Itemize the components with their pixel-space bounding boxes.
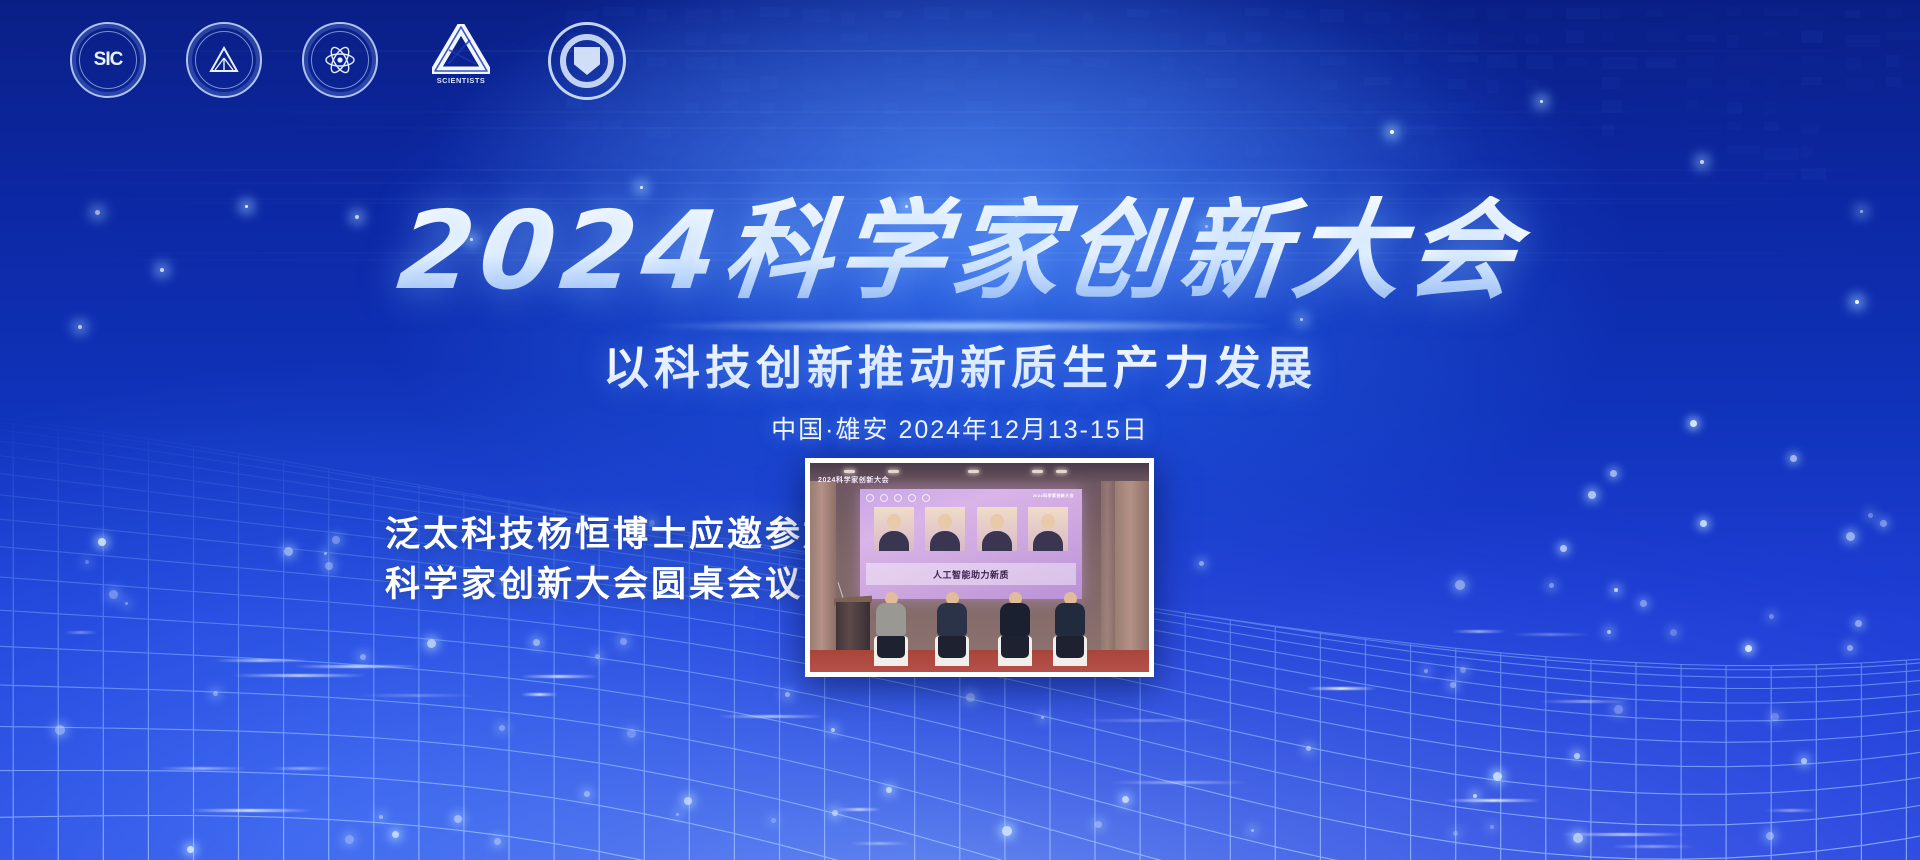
speaker-body [982,531,1012,551]
seal-triangle-glyph [188,24,260,96]
speaker-photo [1028,507,1068,551]
screen-topic-text: 人工智能助力新质 [933,568,1009,581]
panelist-legs [1056,636,1084,658]
organizer-logo-strip: SIC [70,22,620,94]
seal-monogram: SIC [72,24,144,96]
circular-seal-icon: SIC [70,22,146,98]
panelist [1000,592,1030,658]
circular-seal-atom-icon [302,22,378,98]
speaker-photo [977,507,1017,551]
speaker-head [887,514,901,529]
seal-atom-glyph [304,24,376,96]
panelist [937,592,967,658]
speaker-head [990,514,1004,529]
circular-seal-shield-icon [548,22,626,100]
screen-icon [866,494,874,502]
organizer-seal-2 [186,22,258,94]
speaker-head [1041,514,1055,529]
speaker-portrait [925,507,965,553]
ceiling-light [1056,470,1067,473]
speaker-head [938,514,952,529]
speaker-body [879,531,909,551]
panelist [876,592,906,658]
panelist-legs [877,636,905,658]
panelist-torso [937,603,967,636]
screen-icon [922,494,930,502]
speaker-photo [874,507,914,551]
stage-floor [810,650,1149,672]
caption-line-1: 泛太科技杨恒博士应邀参加 [385,510,795,560]
headline-wrapper: 2024科学家创新大会 [0,196,1920,308]
shield-glyph [574,47,600,75]
speaker-portrait [977,507,1017,553]
panelist-legs [938,636,966,658]
speaker-portrait [874,507,914,553]
panelist-torso [1000,603,1030,636]
organizer-seal-5 [548,22,620,94]
ceiling-light [888,470,899,473]
ceiling-light [844,470,855,473]
screen-topic-band: 人工智能助力新质 [866,563,1076,585]
ceiling-light [968,470,979,473]
screen-icon [894,494,902,502]
circular-seal-triangle-icon [186,22,262,98]
wall-pillar [1115,481,1149,672]
wall-pillar [810,481,836,672]
conference-poster: SIC [0,0,1920,860]
organizer-logo-4: SCIENTISTS [418,22,504,94]
panelist-torso [1055,603,1085,636]
penrose-triangle-icon [432,24,490,76]
organizer-wordmark: SCIENTISTS [416,78,506,85]
poster-subtitle: 以科技创新推动新质生产力发展 [0,332,1920,398]
poster-caption: 泛太科技杨恒博士应邀参加 科学家创新大会圆桌会议 [385,510,795,609]
wall-pillar [1101,481,1115,672]
screen-icon [908,494,916,502]
panelist-torso [876,603,906,636]
panelist-legs [1001,636,1029,658]
screen-title-text: 2024科学家创新大会 [1033,493,1074,499]
caption-line-2: 科学家创新大会圆桌会议 [385,560,795,610]
panelist [1055,592,1085,658]
speaker-body [930,531,960,551]
speaker-portrait-row [874,507,1068,553]
screen-icon [880,494,888,502]
speaker-portrait [1028,507,1068,553]
event-photo: 2024科学家创新大会 2024科学家创新大会 [805,458,1154,677]
speaker-body [1033,531,1063,551]
organizer-seal-3 [302,22,374,94]
stage-banner-text: 2024科学家创新大会 [818,475,889,485]
poster-date-location: 中国·雄安 2024年12月13-15日 [0,410,1920,446]
organizer-seal-1: SIC [70,22,142,94]
event-photo-image: 2024科学家创新大会 2024科学家创新大会 [810,463,1149,672]
ceiling-light [1032,470,1043,473]
speaker-photo [925,507,965,551]
poster-headline: 2024科学家创新大会 [383,196,1537,308]
presentation-screen: 2024科学家创新大会 [860,489,1082,599]
